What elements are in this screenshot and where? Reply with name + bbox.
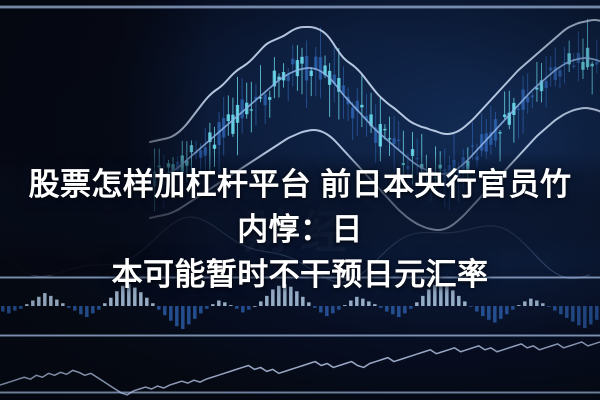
- news-thumbnail-image: 财经 股票怎样加杠杆平台 前日本央行官员竹内惇：日 本可能暂时不干预日元汇率: [0, 0, 600, 400]
- headline-text: 股票怎样加杠杆平台 前日本央行官员竹内惇：日 本可能暂时不干预日元汇率: [14, 162, 586, 297]
